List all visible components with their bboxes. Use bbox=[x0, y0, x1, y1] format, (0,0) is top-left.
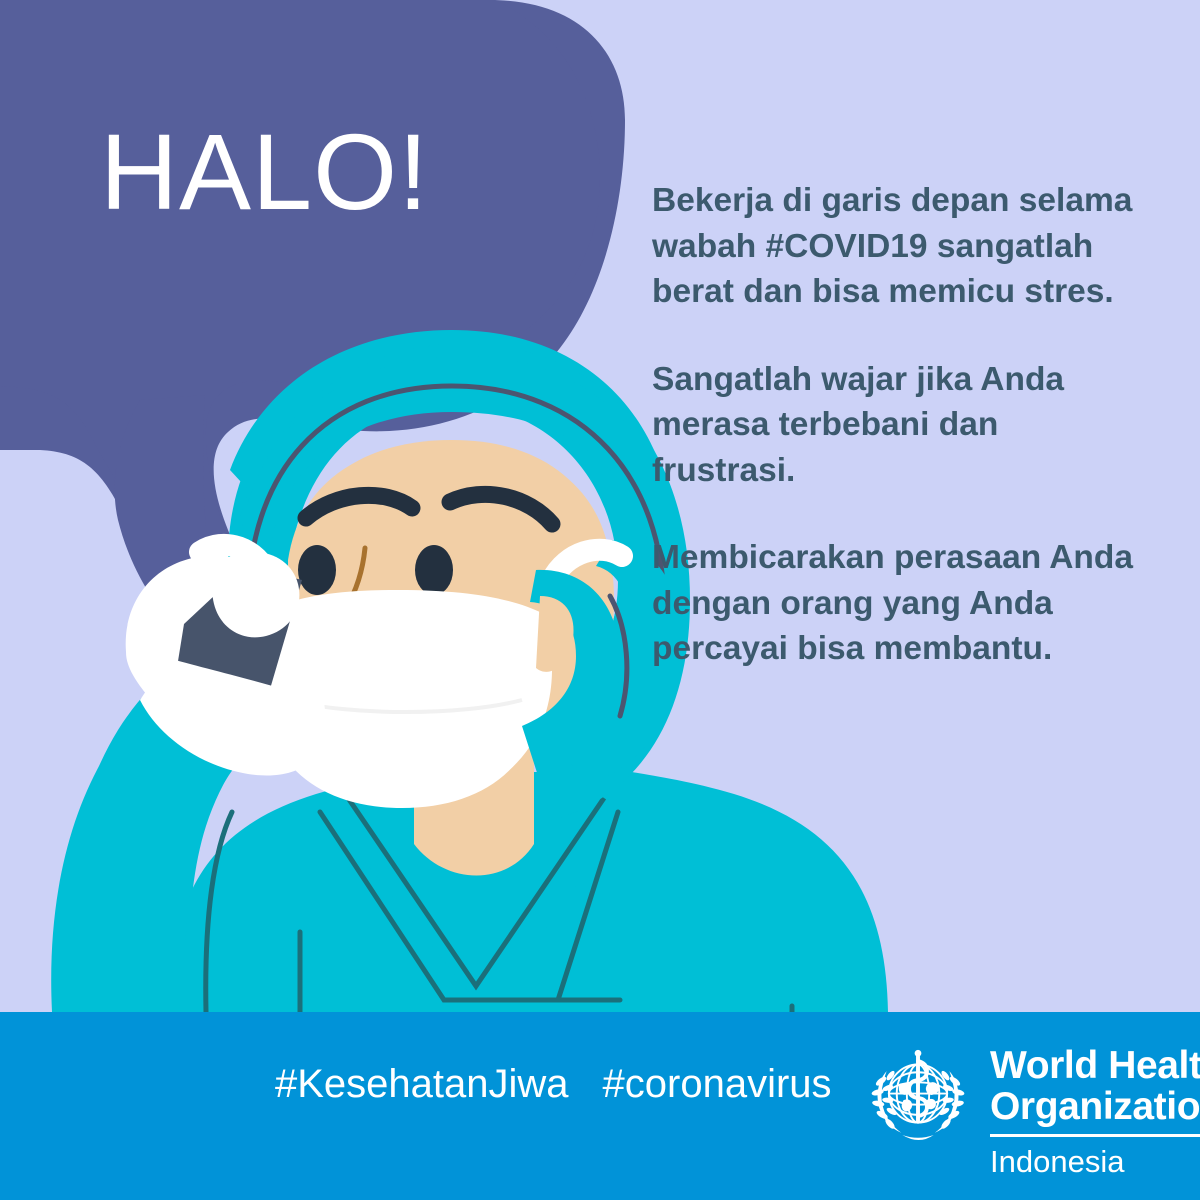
message-paragraph-2: Sangatlah wajar jika Anda merasa terbeba… bbox=[652, 357, 1134, 494]
message-paragraph-1: Bekerja di garis depan selama wabah #COV… bbox=[652, 178, 1134, 315]
who-logo: World Health Organization Indonesia bbox=[862, 1042, 1200, 1177]
who-name-line2: Organization bbox=[990, 1087, 1200, 1128]
message-block: Bekerja di garis depan selama wabah #COV… bbox=[652, 178, 1134, 672]
glove-fingers bbox=[212, 552, 299, 638]
hashtag-group: #KesehatanJiwa #coronavirus bbox=[275, 1062, 832, 1107]
speech-bubble-text: HALO! bbox=[100, 118, 429, 226]
who-wordmark: World Health Organization Indonesia bbox=[990, 1042, 1200, 1177]
who-country-label: Indonesia bbox=[990, 1146, 1200, 1177]
poster-canvas: HALO! Bekerja di garis depan selama waba… bbox=[0, 0, 1200, 1200]
who-divider bbox=[990, 1134, 1200, 1137]
eye-left bbox=[298, 545, 336, 595]
message-paragraph-3: Membicarakan perasaan Anda dengan orang … bbox=[652, 535, 1134, 672]
hashtag-coronavirus[interactable]: #coronavirus bbox=[603, 1062, 832, 1107]
who-name-line1: World Health bbox=[990, 1046, 1200, 1087]
who-emblem-icon bbox=[862, 1042, 974, 1154]
footer-bar: #KesehatanJiwa #coronavirus bbox=[0, 1012, 1200, 1200]
hashtag-kesehatanjiwa[interactable]: #KesehatanJiwa bbox=[275, 1062, 569, 1107]
eye-right bbox=[415, 545, 453, 595]
